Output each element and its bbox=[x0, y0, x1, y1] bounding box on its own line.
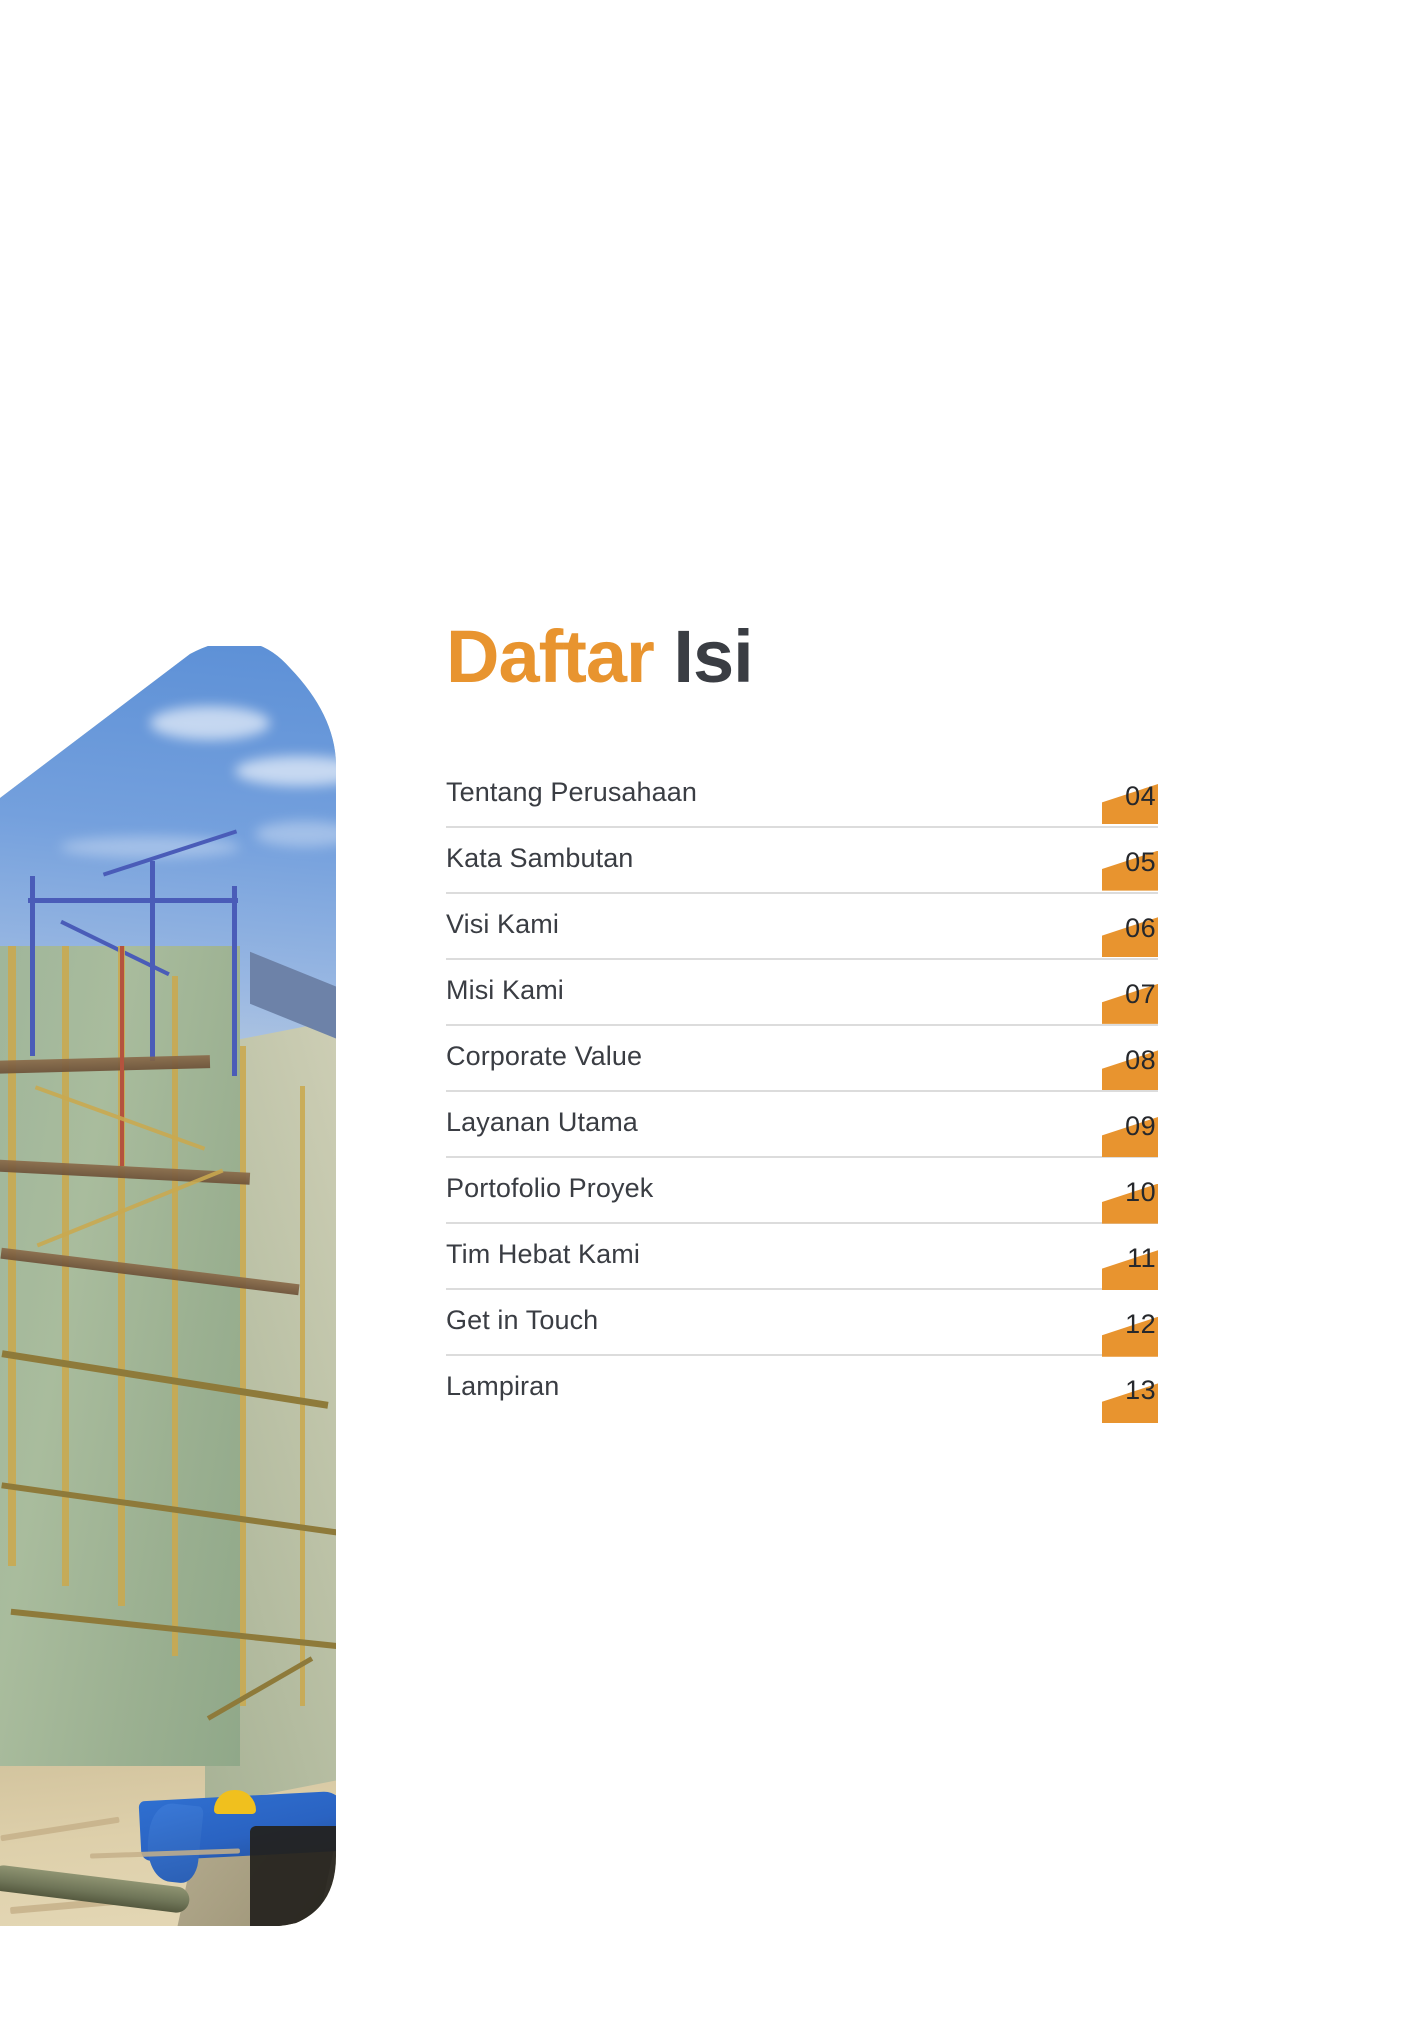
scaffold-pole bbox=[240, 1046, 246, 1706]
toc-row[interactable]: Tentang Perusahaan04 bbox=[446, 762, 1158, 828]
cover-photo-panel bbox=[0, 646, 336, 1926]
toc-entry-label: Visi Kami bbox=[446, 909, 559, 944]
toc-page-number-group: 10 bbox=[1096, 1158, 1158, 1222]
scaffold-rail bbox=[28, 898, 238, 903]
toc-entry-label: Tentang Perusahaan bbox=[446, 777, 697, 812]
scaffold-pole bbox=[30, 876, 35, 1056]
toc-row[interactable]: Visi Kami06 bbox=[446, 894, 1158, 960]
toc-page-number-group: 07 bbox=[1096, 960, 1158, 1024]
toc-page-number: 11 bbox=[1127, 1243, 1156, 1274]
toc-page-number-group: 05 bbox=[1096, 828, 1158, 892]
page-title: Daftar Isi bbox=[446, 620, 753, 694]
toc-row[interactable]: Layanan Utama09 bbox=[446, 1092, 1158, 1158]
toc-page-number: 06 bbox=[1125, 913, 1156, 944]
toc-entry-label: Lampiran bbox=[446, 1371, 559, 1406]
toc-page-number-group: 04 bbox=[1096, 762, 1158, 826]
toc-row[interactable]: Lampiran13 bbox=[446, 1356, 1158, 1420]
toc-entry-label: Get in Touch bbox=[446, 1305, 598, 1340]
toc-entry-label: Layanan Utama bbox=[446, 1107, 638, 1142]
toc-row[interactable]: Kata Sambutan05 bbox=[446, 828, 1158, 894]
toc-row[interactable]: Tim Hebat Kami11 bbox=[446, 1224, 1158, 1290]
toc-row[interactable]: Portofolio Proyek10 bbox=[446, 1158, 1158, 1224]
toc-page-number: 05 bbox=[1125, 847, 1156, 878]
toc-row[interactable]: Corporate Value08 bbox=[446, 1026, 1158, 1092]
scaffold-pole bbox=[172, 976, 178, 1656]
toc-page-number: 10 bbox=[1125, 1177, 1156, 1208]
scaffold-pole bbox=[300, 1086, 305, 1706]
toc-row[interactable]: Get in Touch12 bbox=[446, 1290, 1158, 1356]
toc-entry-label: Kata Sambutan bbox=[446, 843, 633, 878]
toc-page-number-group: 12 bbox=[1096, 1290, 1158, 1354]
cloud-shape bbox=[150, 706, 270, 740]
toc-page-number: 09 bbox=[1125, 1111, 1156, 1142]
scaffold-pole bbox=[232, 886, 237, 1076]
construction-site-photo bbox=[0, 646, 336, 1926]
toc-page-number-group: 06 bbox=[1096, 894, 1158, 958]
table-of-contents: Tentang Perusahaan04Kata Sambutan05Visi … bbox=[446, 762, 1158, 1420]
toc-page-number: 13 bbox=[1125, 1375, 1156, 1406]
toc-page-number-group: 13 bbox=[1096, 1356, 1158, 1420]
scaffold-pole bbox=[120, 946, 124, 1166]
toc-entry-label: Portofolio Proyek bbox=[446, 1173, 653, 1208]
scaffold-pole bbox=[150, 861, 155, 1061]
toc-entry-label: Tim Hebat Kami bbox=[446, 1239, 640, 1274]
toc-page-number: 04 bbox=[1125, 781, 1156, 812]
toc-page-number: 08 bbox=[1125, 1045, 1156, 1076]
toc-page-number-group: 08 bbox=[1096, 1026, 1158, 1090]
toc-row[interactable]: Misi Kami07 bbox=[446, 960, 1158, 1026]
page-title-rest: Isi bbox=[673, 615, 752, 698]
toc-page-number: 07 bbox=[1125, 979, 1156, 1010]
toc-entry-label: Misi Kami bbox=[446, 975, 564, 1010]
toc-entry-label: Corporate Value bbox=[446, 1041, 642, 1076]
page-title-accent: Daftar bbox=[446, 615, 654, 698]
toc-page-number-group: 11 bbox=[1096, 1224, 1158, 1288]
toc-page-number-group: 09 bbox=[1096, 1092, 1158, 1156]
toc-page-number: 12 bbox=[1125, 1309, 1156, 1340]
equipment-shadow bbox=[250, 1826, 336, 1926]
